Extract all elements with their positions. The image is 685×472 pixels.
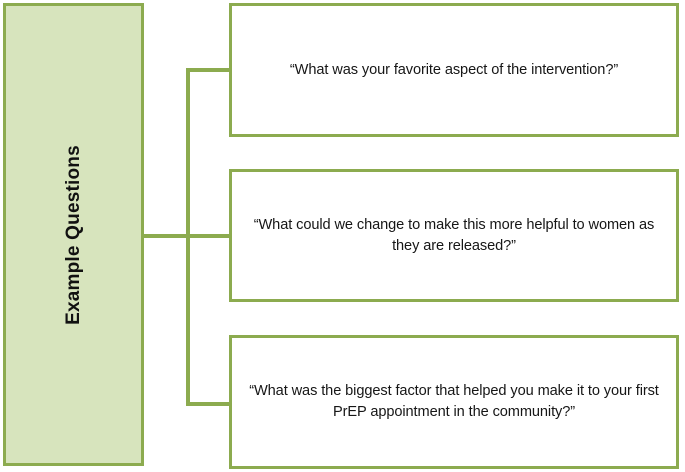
question-text-2: “What could we change to make this more … (246, 215, 662, 256)
connector-branch-1 (186, 68, 230, 72)
example-questions-label-panel: Example Questions (3, 3, 144, 466)
example-questions-label: Example Questions (63, 145, 85, 325)
example-questions-diagram: Example Questions “What was your favorit… (0, 0, 685, 472)
connector-branch-2 (186, 234, 230, 238)
question-box-3: “What was the biggest factor that helped… (229, 335, 679, 469)
connector-branch-3 (186, 402, 230, 406)
question-text-3: “What was the biggest factor that helped… (246, 381, 662, 422)
question-box-2: “What could we change to make this more … (229, 169, 679, 302)
question-box-1: “What was your favorite aspect of the in… (229, 3, 679, 137)
question-text-1: “What was your favorite aspect of the in… (290, 60, 618, 81)
connector-stem (144, 234, 189, 238)
